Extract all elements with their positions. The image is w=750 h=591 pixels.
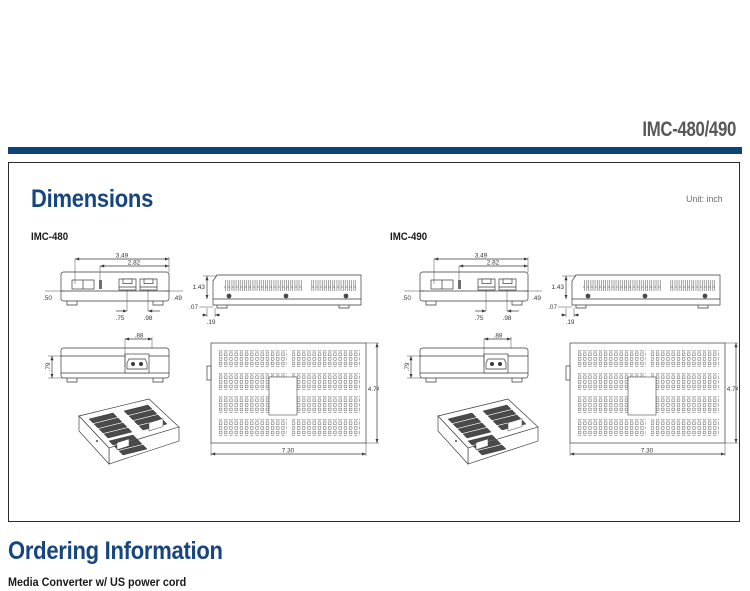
callout-port-offset: .75 [475,315,484,322]
callout-side-height: 1.43 [193,284,206,291]
callout-left-height: .50 [402,295,411,302]
drawing-group-imc-480: 3.49 2.82 .50 .49 [21,251,379,513]
callout-top-width: 4.74 [727,386,738,393]
callout-rear-height: .79 [404,362,411,371]
dimensions-heading: Dimensions [31,185,153,214]
side-panel-view: 1.43 .07 .19 [548,275,720,326]
callout-port-offset: .75 [116,315,125,322]
callout-right-height: .49 [532,295,541,302]
callout-right-height: .49 [173,295,182,302]
front-panel-view: 3.49 2.82 .50 .49 .75 .98 [402,252,542,322]
isometric-view [438,399,538,464]
ordering-information-subheading: Media Converter w/ US power cord [8,575,186,589]
side-panel-view: 1.43 .07 .19 [189,275,361,326]
callout-connector-width: .88 [494,333,503,340]
callout-overall-width: 3.49 [475,252,488,259]
callout-overall-width: 3.49 [116,252,129,259]
callout-connector-width: .88 [135,333,144,340]
top-view: 4.74 7.30 [566,343,738,456]
callout-top-length: 7.30 [282,448,295,455]
unit-label: Unit: inch [687,194,723,205]
header-divider-rule [8,147,742,154]
callout-inner-width: 2.82 [487,259,500,266]
rear-panel-view: .88 .79 [45,333,169,383]
isometric-view [79,399,179,464]
page-header: IMC-480/490 [0,0,750,152]
callout-foot-width: .19 [207,319,216,326]
callout-foot-width: .19 [566,319,575,326]
model-label-imc-480: IMC-480 [31,231,68,243]
callout-top-width: 4.74 [368,386,379,393]
callout-inner-width: 2.82 [128,259,141,266]
drawing-group-imc-490: 3.49 2.82 .50 .49 .75 .98 [380,251,738,513]
callout-left-height: .50 [43,295,52,302]
callout-port-spacing: .98 [503,315,512,322]
callout-rear-height: .79 [45,362,52,371]
ordering-information-heading: Ordering Information [8,537,223,566]
dimensions-panel: Dimensions Unit: inch IMC-480 IMC-490 [8,162,740,522]
model-label-imc-490: IMC-490 [390,231,427,243]
callout-port-spacing: .98 [144,315,153,322]
rear-panel-view: .88 .79 [404,333,528,383]
callout-foot-height: .07 [548,304,557,311]
page-title: IMC-480/490 [642,118,736,142]
top-view: 4.74 7.30 [207,343,379,456]
front-panel-view: 3.49 2.82 .50 .49 [43,252,183,322]
callout-foot-height: .07 [189,304,198,311]
callout-top-length: 7.30 [641,448,654,455]
callout-side-height: 1.43 [552,284,565,291]
